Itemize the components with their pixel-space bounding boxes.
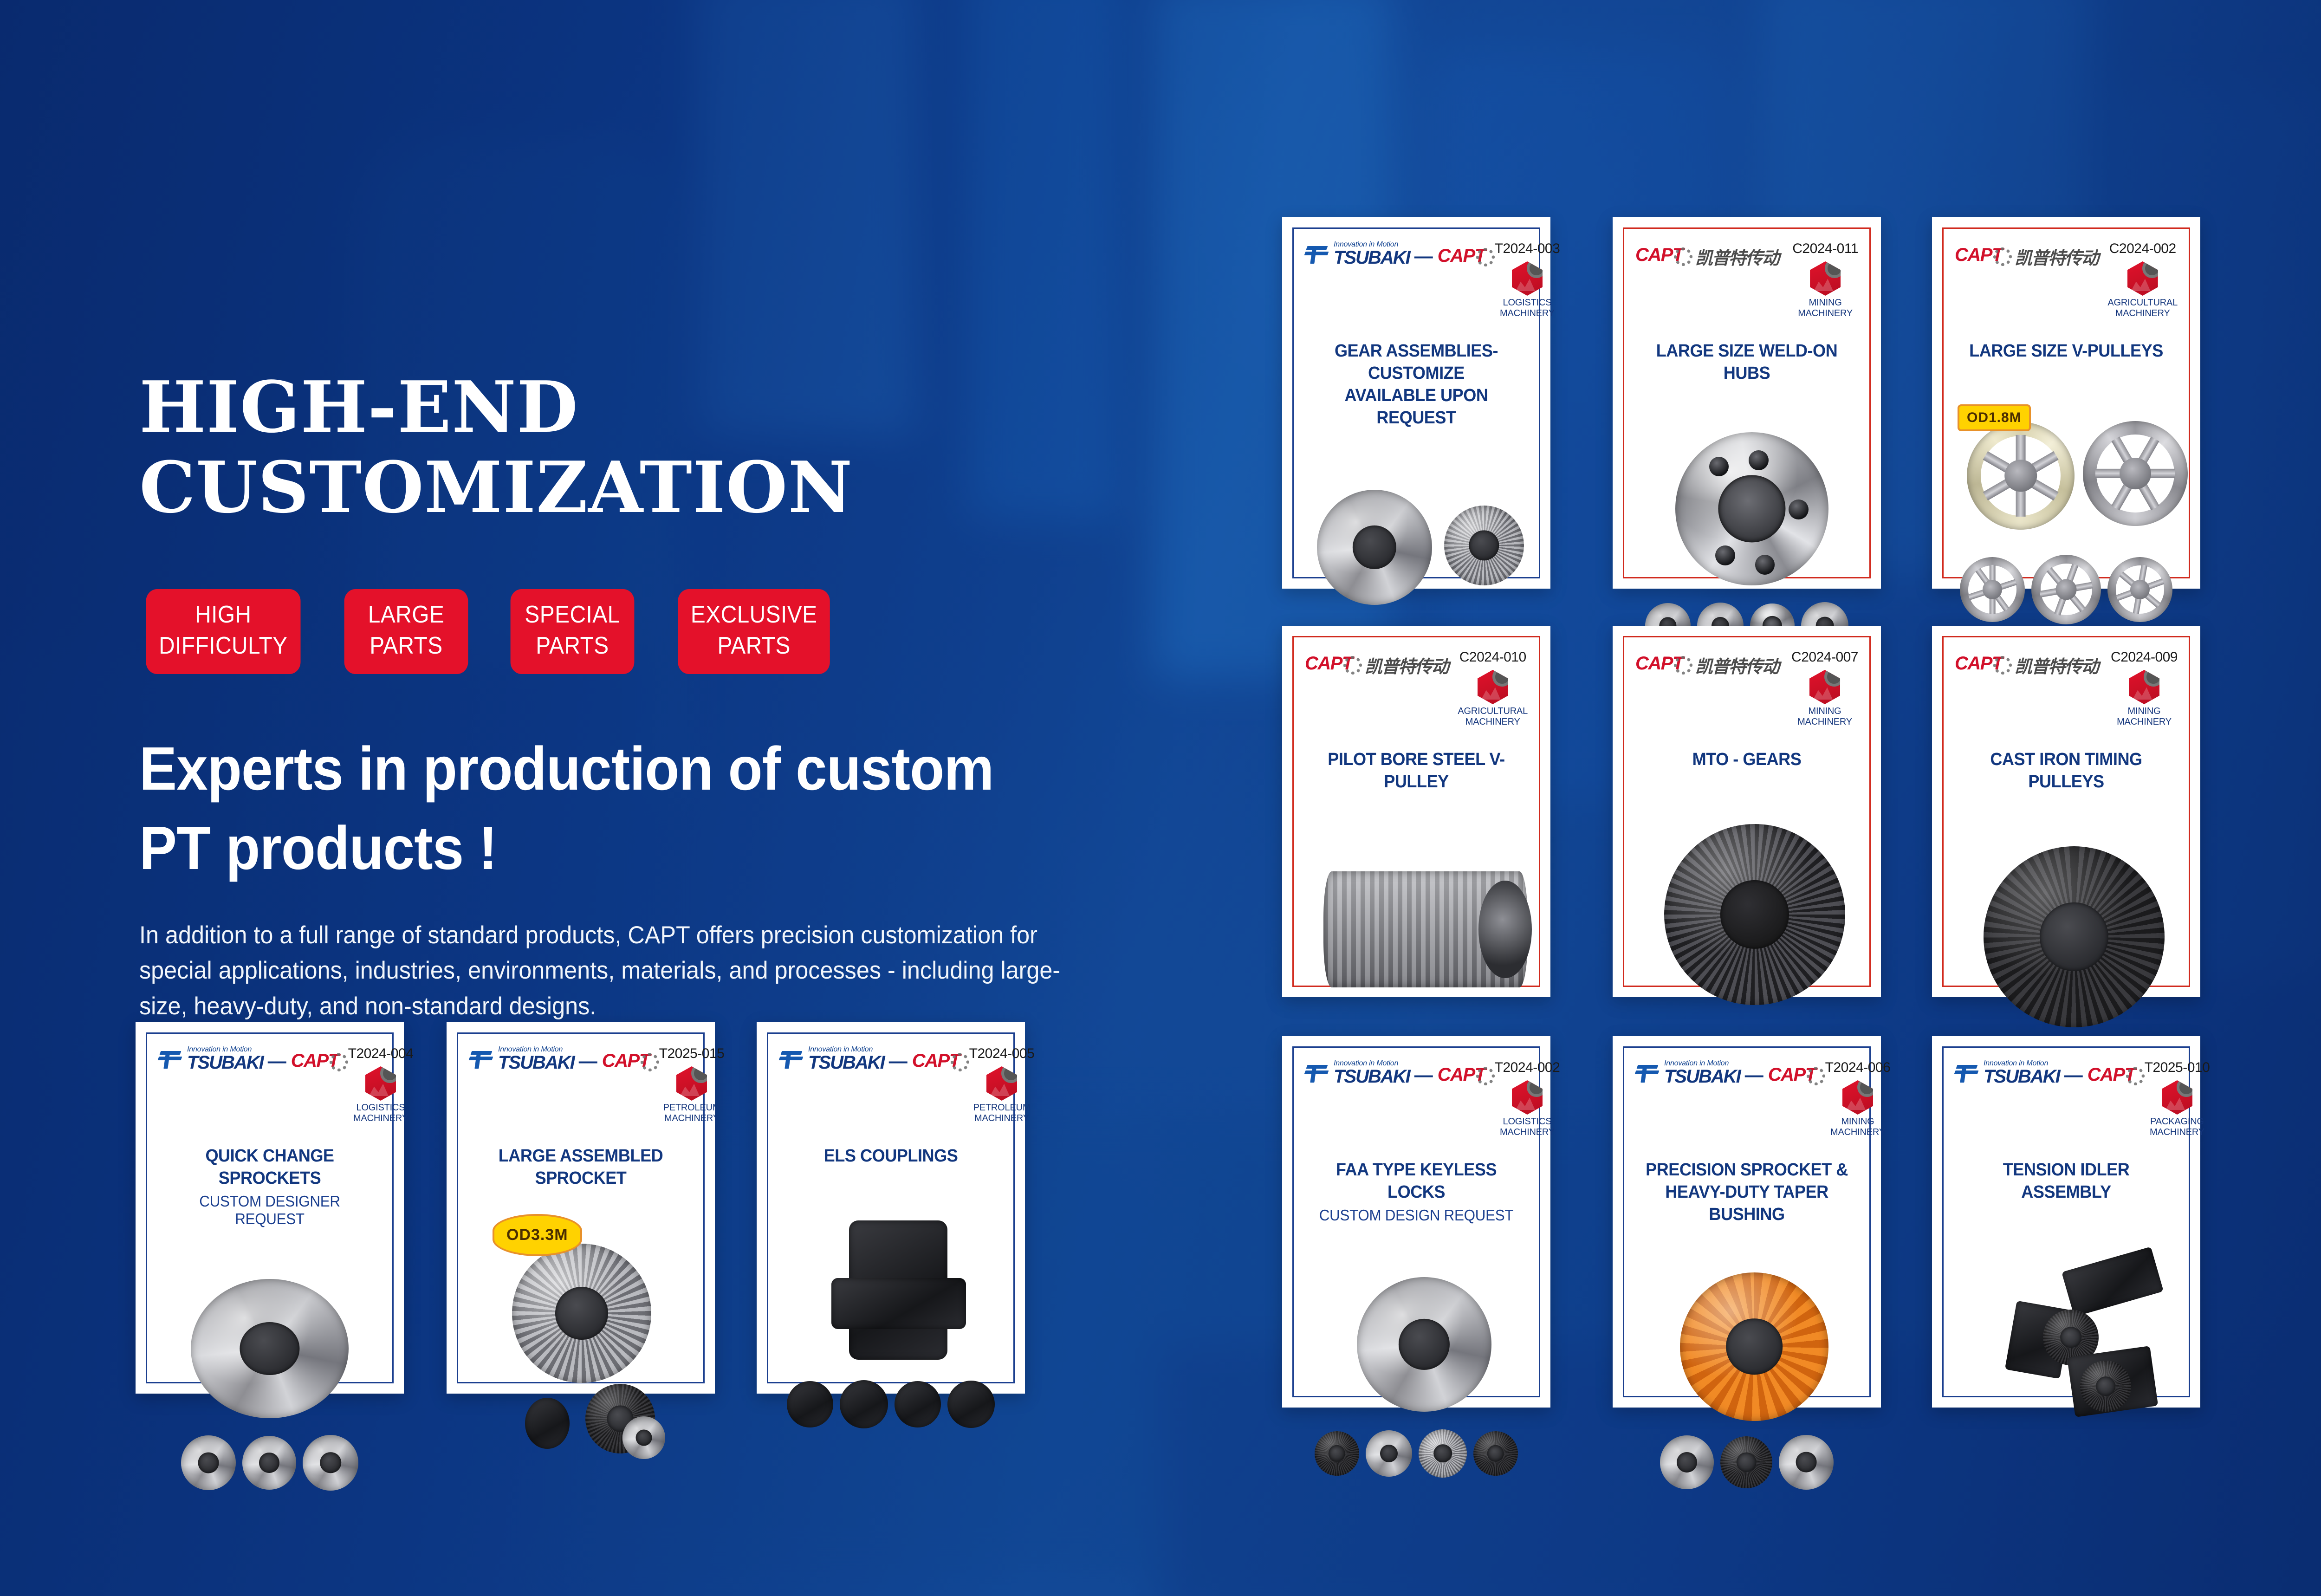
gear-icon: [1476, 1067, 1495, 1085]
tsubaki-t-icon: [158, 1048, 184, 1070]
industry-label: MINING MACHINERY: [2111, 706, 2178, 727]
gear-icon: [1343, 656, 1362, 675]
pill-label-line1: LARGE: [357, 599, 455, 631]
capt-chinese-logo: CAPT 凯普特传动: [1955, 241, 2098, 269]
card-title: ELS COUPLINGS: [785, 1145, 997, 1168]
industry-label: PACKAGING MACHINERY: [2145, 1116, 2210, 1138]
tsubaki-capt-logo: Innovation in Motion TSUBAKI — CAPT: [1305, 1060, 1495, 1086]
gear-icon: [1674, 247, 1692, 266]
product-card-gear-assemblies[interactable]: Innovation in Motion TSUBAKI — CAPT T202…: [1282, 217, 1550, 589]
industry-hex-icon: [365, 1066, 396, 1101]
card-title: LARGE SIZE WELD-ON HUBS: [1641, 340, 1853, 385]
logo-dash: —: [579, 1051, 597, 1072]
gear-icon: [951, 1053, 969, 1071]
logo-brand-name: TSUBAKI: [808, 1053, 884, 1072]
card-title: PILOT BORE STEEL V-PULLEY: [1310, 749, 1522, 793]
tsubaki-capt-logo: Innovation in Motion TSUBAKI — CAPT: [469, 1046, 659, 1072]
product-code: C2024-010: [1458, 649, 1528, 665]
industry-hex-icon: [1512, 1080, 1543, 1115]
tsubaki-t-icon: [779, 1048, 805, 1070]
pill-label-line1: EXCLUSIVE: [690, 599, 817, 631]
size-callout-badge: OD3.3M: [493, 1214, 582, 1256]
product-card-large-size-v-pulleys[interactable]: CAPT 凯普特传动 C2024-002 AGRICULTURAL MACHIN…: [1932, 217, 2200, 589]
product-card-large-assembled-sprocket[interactable]: Innovation in Motion TSUBAKI — CAPT T202…: [447, 1022, 715, 1394]
product-code: C2024-009: [2111, 649, 2178, 665]
card-title: QUICK CHANGE SPROCKETS: [164, 1145, 376, 1190]
tsubaki-t-icon: [1305, 243, 1331, 265]
industry-hex-icon: [1512, 261, 1543, 296]
logo-dash: —: [889, 1051, 908, 1072]
industry-label: MINING MACHINERY: [1791, 706, 1858, 727]
product-card-quick-change-sprockets[interactable]: Innovation in Motion TSUBAKI — CAPT T202…: [136, 1022, 404, 1394]
logo-chinese-name: 凯普特传动: [2015, 652, 2098, 678]
capt-chinese-logo: CAPT 凯普特传动: [1635, 649, 1779, 678]
gear-icon: [1807, 1067, 1825, 1085]
card-title: TENSION IDLER ASSEMBLY: [1960, 1159, 2172, 1204]
capt-chinese-logo: CAPT 凯普特传动: [1305, 649, 1448, 678]
card-title: FAA TYPE KEYLESS LOCKS: [1310, 1159, 1522, 1204]
pill-large-parts[interactable]: LARGE PARTS: [344, 589, 468, 674]
gear-icon: [1993, 247, 2012, 266]
pill-label-line2: PARTS: [690, 630, 817, 662]
product-card-tension-idler-assembly[interactable]: Innovation in Motion TSUBAKI — CAPT T202…: [1932, 1036, 2200, 1408]
gear-icon: [2126, 1067, 2145, 1085]
pill-label-line1: SPECIAL: [523, 599, 622, 631]
industry-hex-icon: [2129, 670, 2159, 704]
title-line-2: CUSTOMIZATION: [139, 446, 853, 529]
industry-label: PETROLEUM MACHINERY: [659, 1103, 725, 1124]
tsubaki-t-icon: [1305, 1062, 1331, 1083]
logo-brand-name: TSUBAKI: [1664, 1067, 1740, 1086]
product-card-pilot-bore-steel-v-pulley[interactable]: CAPT 凯普特传动 C2024-010 AGRICULTURAL MACHIN…: [1282, 626, 1550, 997]
industry-hex-icon: [1810, 261, 1841, 296]
logo-dash: —: [268, 1051, 286, 1072]
hero-paragraph: In addition to a full range of standard …: [139, 918, 1074, 1024]
logo-brand-name: TSUBAKI: [1984, 1067, 2060, 1086]
card-subtitle: CUSTOM DESIGNER REQUEST: [164, 1193, 376, 1228]
industry-label: LOGISTICS MACHINERY: [348, 1103, 414, 1124]
tsubaki-t-icon: [1955, 1062, 1981, 1083]
product-card-els-couplings[interactable]: Innovation in Motion TSUBAKI — CAPT T202…: [757, 1022, 1025, 1394]
logo-brand-name: TSUBAKI: [1334, 248, 1410, 267]
product-code: T2024-006: [1825, 1060, 1891, 1076]
pill-high-difficulty[interactable]: HIGH DIFFICULTY: [146, 589, 300, 674]
card-title: LARGE ASSEMBLED SPROCKET: [475, 1145, 687, 1190]
logo-dash: —: [1745, 1065, 1763, 1086]
product-photo-tension-idler: [1955, 1212, 2178, 1387]
size-callout-badge: OD1.8M: [1958, 404, 2031, 431]
industry-label: MINING MACHINERY: [1792, 298, 1858, 319]
logo-dash: —: [2064, 1065, 2083, 1086]
product-card-faa-type-keyless-locks[interactable]: Innovation in Motion TSUBAKI — CAPT T202…: [1282, 1036, 1550, 1408]
industry-hex-icon: [676, 1066, 707, 1101]
industry-hex-icon: [1809, 670, 1840, 704]
tsubaki-t-icon: [469, 1048, 495, 1070]
logo-chinese-name: 凯普特传动: [1365, 652, 1448, 678]
product-card-mto-gears[interactable]: CAPT 凯普特传动 C2024-007 MINING MACHINERY MT…: [1613, 626, 1881, 997]
gear-icon: [1993, 656, 2012, 675]
logo-chinese-name: 凯普特传动: [1695, 652, 1779, 678]
product-code: C2024-011: [1792, 241, 1858, 257]
industry-label: LOGISTICS MACHINERY: [1495, 1116, 1560, 1138]
pill-label-line2: PARTS: [523, 630, 622, 662]
product-code: T2024-004: [348, 1046, 414, 1062]
product-photo-gear-assemblies: [1305, 438, 1528, 568]
tsubaki-capt-logo: Innovation in Motion TSUBAKI — CAPT: [779, 1046, 969, 1072]
product-photo-quick-change-sprockets: [158, 1236, 381, 1373]
headline-line-1: Experts in production of custom: [139, 734, 993, 803]
gear-icon: [330, 1053, 348, 1071]
product-photo-timing-pulleys: [1955, 802, 2178, 976]
industry-label: LOGISTICS MACHINERY: [1495, 298, 1560, 319]
card-title: MTO - GEARS: [1641, 749, 1853, 771]
gear-icon: [641, 1053, 659, 1071]
tsubaki-t-icon: [1635, 1062, 1661, 1083]
product-card-cast-iron-timing-pulleys[interactable]: CAPT 凯普特传动 C2024-009 MINING MACHINERY CA…: [1932, 626, 2200, 997]
product-photo-mto-gears: [1635, 779, 1858, 976]
feature-pill-group: HIGH DIFFICULTY LARGE PARTS SPECIAL PART…: [139, 589, 1170, 674]
product-code: C2024-002: [2107, 241, 2178, 257]
logo-dash: —: [1414, 1065, 1433, 1086]
tsubaki-capt-logo: Innovation in Motion TSUBAKI — CAPT: [1955, 1060, 2145, 1086]
card-subtitle: CUSTOM DESIGN REQUEST: [1310, 1207, 1522, 1224]
tsubaki-capt-logo: Innovation in Motion TSUBAKI — CAPT: [158, 1046, 348, 1072]
product-code: T2024-003: [1495, 241, 1560, 257]
industry-hex-icon: [2162, 1080, 2192, 1115]
product-photo-precision-sprocket: [1635, 1234, 1858, 1387]
hero-section: HIGH-END CUSTOMIZATION HIGH DIFFICULTY L…: [139, 367, 1170, 1024]
pill-special-parts[interactable]: SPECIAL PARTS: [510, 589, 634, 674]
product-card-large-size-weld-on-hubs[interactable]: CAPT 凯普特传动 C2024-011 MINING MACHINERY LA…: [1613, 217, 1881, 589]
industry-label: AGRICULTURAL MACHINERY: [2107, 298, 2178, 319]
product-photo-keyless-locks: [1305, 1233, 1528, 1387]
logo-brand-name: TSUBAKI: [187, 1053, 263, 1072]
title-line-1: HIGH-END: [139, 365, 578, 448]
logo-chinese-name: 凯普特传动: [1695, 244, 1779, 269]
industry-hex-icon: [1842, 1080, 1873, 1115]
product-photo-weld-on-hubs: [1635, 393, 1858, 568]
pill-exclusive-parts[interactable]: EXCLUSIVE PARTS: [678, 589, 830, 674]
tsubaki-capt-logo: Innovation in Motion TSUBAKI — CAPT: [1305, 241, 1495, 267]
logo-chinese-name: 凯普特传动: [2015, 244, 2098, 269]
card-title: LARGE SIZE V-PULLEYS: [1960, 340, 2172, 363]
product-code: T2025-010: [2145, 1060, 2210, 1076]
product-code: T2024-002: [1495, 1060, 1560, 1076]
pill-label-line2: PARTS: [357, 630, 455, 662]
industry-hex-icon: [2127, 261, 2158, 296]
capt-chinese-logo: CAPT 凯普特传动: [1635, 241, 1779, 269]
industry-label: MINING MACHINERY: [1825, 1116, 1891, 1138]
product-code: T2025-015: [659, 1046, 725, 1062]
card-title: PRECISION SPROCKET & HEAVY-DUTY TAPER BU…: [1641, 1159, 1853, 1226]
capt-chinese-logo: CAPT 凯普特传动: [1955, 649, 2098, 678]
gear-icon: [1674, 656, 1692, 675]
product-card-precision-sprocket-taper-bushing[interactable]: Innovation in Motion TSUBAKI — CAPT T202…: [1613, 1036, 1881, 1408]
pill-label-line2: DIFFICULTY: [159, 630, 287, 662]
pill-label-line1: HIGH: [159, 599, 287, 631]
product-photo-pilot-bore-pulley: [1305, 802, 1528, 976]
hero-headline: Experts in production of custom PT produ…: [139, 729, 1087, 888]
logo-dash: —: [1414, 246, 1433, 267]
tsubaki-capt-logo: Innovation in Motion TSUBAKI — CAPT: [1635, 1060, 1825, 1086]
product-photo-large-assembled-sprocket: OD3.3M: [469, 1198, 692, 1373]
headline-line-2: PT products !: [139, 814, 497, 882]
page-title: HIGH-END CUSTOMIZATION: [139, 367, 1170, 528]
logo-brand-name: TSUBAKI: [1334, 1067, 1410, 1086]
industry-hex-icon: [986, 1066, 1017, 1101]
industry-label: AGRICULTURAL MACHINERY: [1458, 706, 1528, 727]
card-title: CAST IRON TIMING PULLEYS: [1960, 749, 2172, 793]
product-code: T2024-005: [969, 1046, 1035, 1062]
product-photo-v-pulleys: OD1.8M: [1955, 371, 2178, 568]
industry-label: PETROLEUM MACHINERY: [969, 1103, 1035, 1124]
card-title: GEAR ASSEMBLIES-CUSTOMIZE AVAILABLE UPON…: [1310, 340, 1522, 429]
logo-brand-name: TSUBAKI: [498, 1053, 574, 1072]
product-code: C2024-007: [1791, 649, 1858, 665]
gear-icon: [1476, 248, 1495, 266]
product-photo-els-couplings: [779, 1176, 1002, 1373]
industry-hex-icon: [1478, 670, 1508, 704]
